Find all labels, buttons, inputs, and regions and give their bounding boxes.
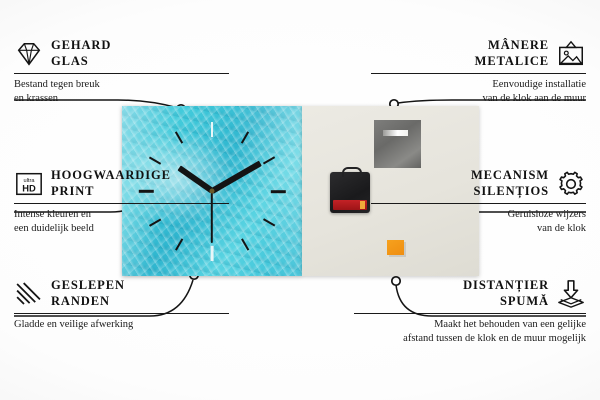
title-line-2: PRINT	[51, 184, 171, 200]
feature-header: GEHARD GLAS	[14, 38, 229, 70]
title-line-1: GESLEPEN	[51, 278, 125, 294]
svg-text:HD: HD	[22, 183, 36, 193]
feature-title: GEHARD GLAS	[51, 38, 111, 70]
feature-description: Intense kleuren eneen duidelijk beeld	[14, 208, 229, 236]
gear-icon	[556, 169, 586, 199]
hanger-slot	[383, 130, 408, 136]
beveled-edges-icon	[14, 279, 44, 309]
feature-description: Geruisloze wijzersvan de klok	[371, 208, 586, 236]
diamond-icon	[14, 39, 44, 69]
feature-header: DISTANȚIER SPUMĂ	[354, 278, 586, 310]
feature-title: MÂNERE METALICE	[475, 38, 549, 70]
title-line-2: METALICE	[475, 54, 549, 70]
feature-header: ultra HD HOOGWAARDIGE PRINT	[14, 168, 229, 200]
title-line-2: GLAS	[51, 54, 111, 70]
title-line-1: HOOGWAARDIGE	[51, 168, 171, 184]
feature-mecanism-silentios: MECANISM SILENȚIOS Geruisloze wijzersvan…	[371, 168, 586, 236]
ultra-hd-icon: ultra HD	[14, 169, 44, 199]
divider	[14, 203, 229, 205]
infographic-canvas: GEHARD GLAS Bestand tegen breuken krasse…	[0, 0, 600, 400]
title-line-2: SILENȚIOS	[471, 184, 549, 200]
clock-tick-12	[211, 122, 214, 137]
battery	[333, 200, 367, 210]
divider	[354, 313, 586, 315]
feature-geslepen-randen: GESLEPEN RANDEN Gladde en veilige afwerk…	[14, 278, 229, 332]
feature-description: Eenvoudige installatievan de klok aan de…	[371, 78, 586, 106]
divider	[371, 73, 586, 75]
battery-terminal	[360, 201, 365, 209]
title-line-2: SPUMĂ	[463, 294, 549, 310]
title-line-1: MÂNERE	[475, 38, 549, 54]
feature-description: Maakt het behouden van een gelijkeafstan…	[354, 318, 586, 346]
feature-distantier-spuma: DISTANȚIER SPUMĂ Maakt het behouden van …	[354, 278, 586, 346]
feature-title: GESLEPEN RANDEN	[51, 278, 125, 310]
spacer-press-icon	[556, 279, 586, 309]
clock-tick-6	[211, 246, 214, 261]
picture-frame-icon	[556, 39, 586, 69]
feature-manere-metalice: MÂNERE METALICE Eenvoudige installatieva…	[371, 38, 586, 106]
feature-title: HOOGWAARDIGE PRINT	[51, 168, 171, 200]
movement-loop	[342, 167, 362, 177]
feature-hoogwaardige-print: ultra HD HOOGWAARDIGE PRINT Intense kleu…	[14, 168, 229, 236]
feature-header: MÂNERE METALICE	[371, 38, 586, 70]
feature-gehard-glas: GEHARD GLAS Bestand tegen breuken krasse…	[14, 38, 229, 106]
feature-title: MECANISM SILENȚIOS	[471, 168, 549, 200]
divider	[371, 203, 586, 205]
foam-spacer	[387, 240, 404, 255]
title-line-1: MECANISM	[471, 168, 549, 184]
feature-description: Bestand tegen breuken krassen	[14, 78, 229, 106]
title-line-1: GEHARD	[51, 38, 111, 54]
title-line-1: DISTANȚIER	[463, 278, 549, 294]
title-line-2: RANDEN	[51, 294, 125, 310]
clock-movement	[330, 172, 370, 213]
metal-hanger-icon	[374, 120, 421, 168]
clock-tick-3	[270, 190, 285, 193]
divider	[14, 313, 229, 315]
divider	[14, 73, 229, 75]
feature-header: MECANISM SILENȚIOS	[371, 168, 586, 200]
feature-description: Gladde en veilige afwerking	[14, 318, 229, 332]
feature-header: GESLEPEN RANDEN	[14, 278, 229, 310]
feature-title: DISTANȚIER SPUMĂ	[463, 278, 549, 310]
